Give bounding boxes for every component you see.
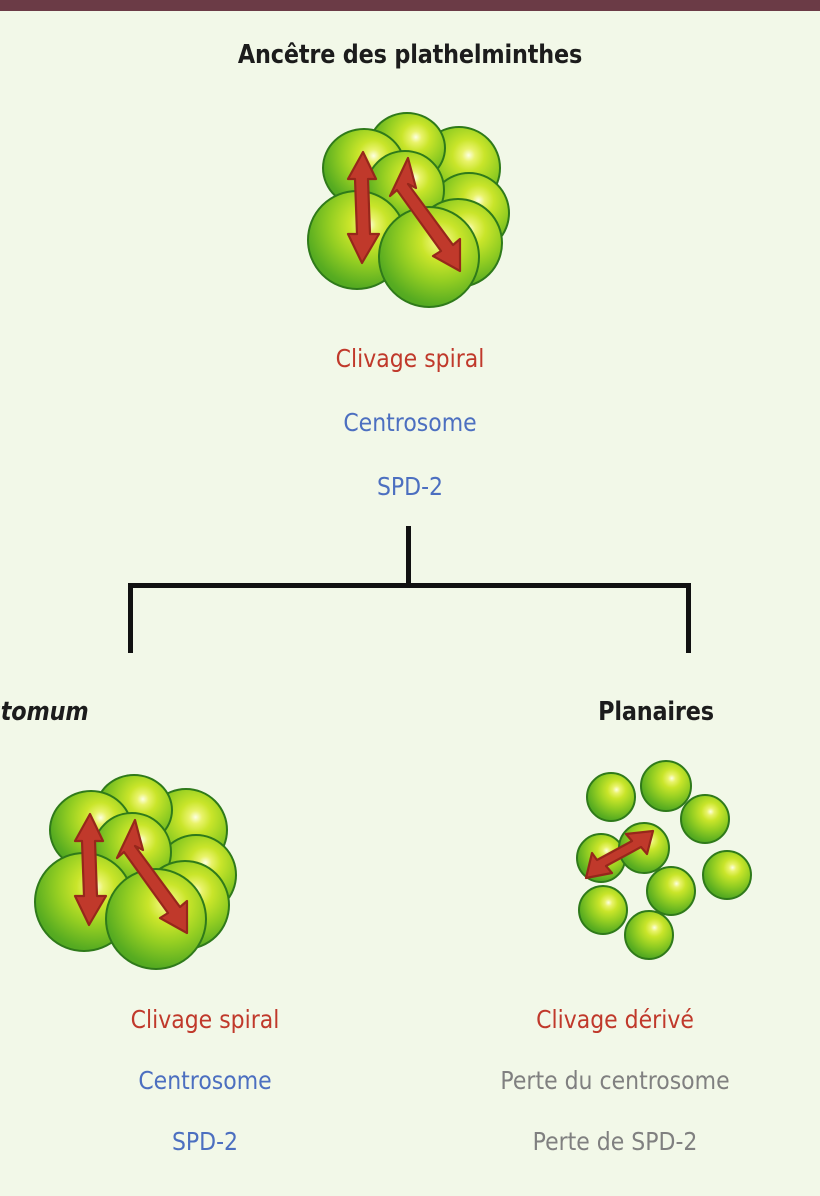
tree-stem: [406, 526, 411, 588]
ancestor-label-1: Centrosome: [49, 408, 771, 437]
page-title: Ancêtre des plathelminthes: [57, 40, 762, 70]
planaires-embryo: [558, 758, 773, 963]
branch-title-planaires: Planaires: [303, 697, 820, 727]
cleavage-axis-arrows: [32, 770, 237, 970]
branch-title-macrostomum: Macrostomum: [0, 697, 353, 727]
planaires-label-1: Perte du centrosome: [435, 1066, 796, 1095]
macrostomum-label-2: SPD-2: [25, 1127, 386, 1156]
ancestor-label-2: SPD-2: [49, 472, 771, 501]
ancestor-embryo: [305, 108, 510, 308]
planaires-label-0: Clivage dérivé: [435, 1005, 796, 1034]
macrostomum-embryo: [32, 770, 237, 970]
ancestor-label-0: Clivage spiral: [49, 344, 771, 373]
top-accent-bar: [0, 0, 820, 11]
tree-branch-left: [128, 583, 133, 653]
cleavage-axis-arrow: [558, 758, 773, 963]
diagram-canvas: Ancêtre des plathelminthes Clivage spira…: [0, 0, 820, 1196]
planaires-label-2: Perte de SPD-2: [435, 1127, 796, 1156]
tree-crossbar: [128, 583, 691, 588]
macrostomum-label-0: Clivage spiral: [25, 1005, 386, 1034]
macrostomum-label-1: Centrosome: [25, 1066, 386, 1095]
tree-branch-right: [686, 583, 691, 653]
cleavage-axis-arrows: [305, 108, 510, 308]
